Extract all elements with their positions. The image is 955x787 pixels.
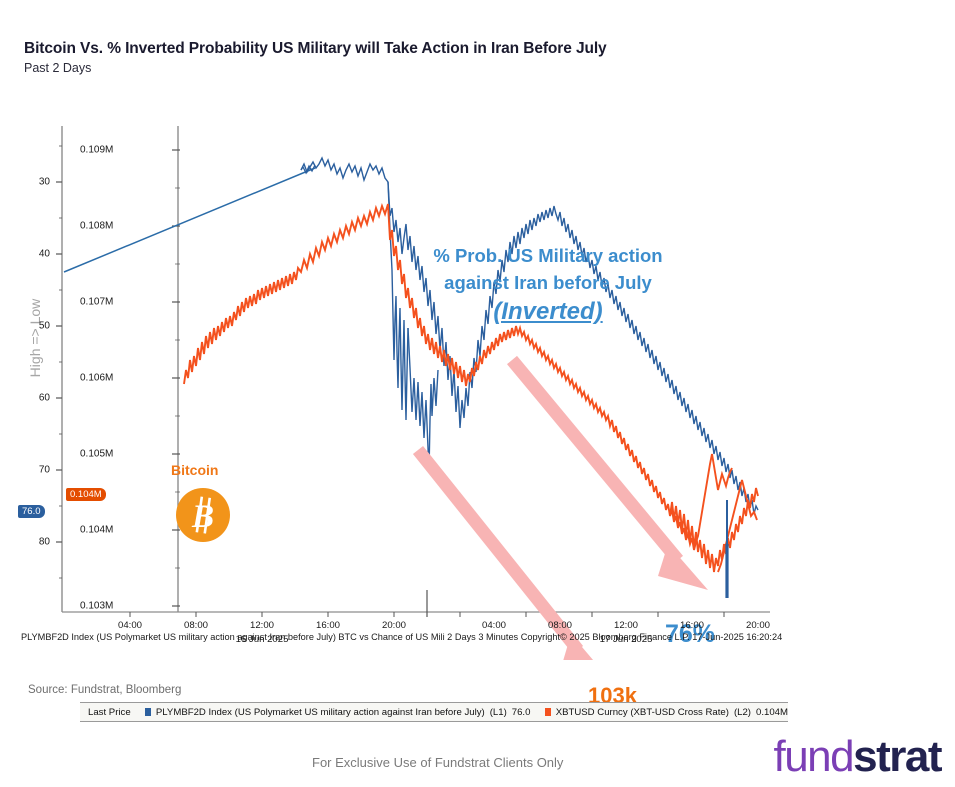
page-title: Bitcoin Vs. % Inverted Probability US Mi… [24, 40, 924, 58]
y-tick-price-2: 0.107M [80, 297, 113, 308]
pink-arrow-upper [512, 360, 708, 590]
pink-arrow-lower [418, 450, 610, 660]
y-tick-left-80: 80 [24, 537, 50, 548]
x-tick-d1-1600: 16:00 [316, 620, 340, 631]
x-tick-d1-0400: 04:00 [118, 620, 142, 631]
annotation-probability-line2: against Iran before July [444, 272, 652, 293]
y-tick-left-50: 50 [24, 321, 50, 332]
legend-series1-axis: (L1) [490, 707, 507, 718]
last-price-badge-bitcoin: 0.104M [66, 488, 106, 501]
last-price-badge-probability: 76.0 [18, 505, 45, 518]
legend-series2-value: 0.104M [756, 707, 788, 718]
x-tick-d1-1200: 12:00 [250, 620, 274, 631]
chart-legend: Last Price PLYMBF2D Index (US Polymarket… [80, 702, 788, 722]
annotation-inverted: (Inverted) [388, 298, 708, 325]
fundstrat-logo: fundstrat [773, 735, 941, 779]
x-tick-d2-0800: 08:00 [548, 620, 572, 631]
annotation-probability: % Prob. US Military action against Iran … [388, 242, 708, 325]
annotation-bitcoin-label: Bitcoin [171, 462, 218, 478]
y-tick-left-30: 30 [24, 177, 50, 188]
x-tick-d1-0800: 08:00 [184, 620, 208, 631]
fundstrat-logo-fund: fund [773, 732, 853, 781]
legend-series1-name: PLYMBF2D Index (US Polymarket US militar… [156, 707, 485, 718]
y-tick-price-0: 0.109M [80, 145, 113, 156]
source-line: Source: Fundstrat, Bloomberg [28, 684, 181, 696]
legend-series2-name: XBTUSD Curncy (XBT-USD Cross Rate) [556, 707, 729, 718]
chart-panel: High => Low [18, 120, 788, 660]
y-tick-left-60: 60 [24, 393, 50, 404]
svg-text:B: B [191, 499, 214, 535]
y-tick-left-70: 70 [24, 465, 50, 476]
y-tick-price-6: 0.103M [80, 601, 113, 612]
x-tick-d2-1200: 12:00 [614, 620, 638, 631]
y-tick-price-4: 0.105M [80, 449, 113, 460]
bloomberg-footer: PLYMBF2D Index (US Polymarket US militar… [21, 632, 782, 642]
legend-swatch-probability [145, 708, 150, 716]
exclusive-use-line: For Exclusive Use of Fundstrat Clients O… [312, 755, 563, 770]
page-subtitle: Past 2 Days [24, 61, 924, 75]
left-axis-ticks [56, 146, 62, 578]
x-tick-d2-1600: 16:00 [680, 620, 704, 631]
bitcoin-icon: B [176, 488, 230, 542]
y-tick-price-1: 0.108M [80, 221, 113, 232]
series-bitcoin-tail [718, 480, 757, 572]
chart-svg [18, 120, 788, 660]
y-tick-price-5: 0.104M [80, 525, 113, 536]
fundstrat-logo-strat: strat [853, 732, 941, 781]
x-axis-ticks [130, 590, 724, 617]
legend-last-price-label: Last Price [88, 707, 131, 718]
annotation-probability-line1: % Prob. US Military action [433, 245, 662, 266]
x-tick-d1-2000: 20:00 [382, 620, 406, 631]
legend-series1-value: 76.0 [512, 707, 531, 718]
y-tick-left-40: 40 [24, 249, 50, 260]
y-tick-price-3: 0.106M [80, 373, 113, 384]
legend-swatch-bitcoin [545, 708, 550, 716]
header: Bitcoin Vs. % Inverted Probability US Mi… [24, 40, 924, 75]
x-tick-d2-2000: 20:00 [746, 620, 770, 631]
x-tick-d2-0400: 04:00 [482, 620, 506, 631]
series-probability-lead [301, 165, 315, 173]
legend-series2-axis: (L2) [734, 707, 751, 718]
